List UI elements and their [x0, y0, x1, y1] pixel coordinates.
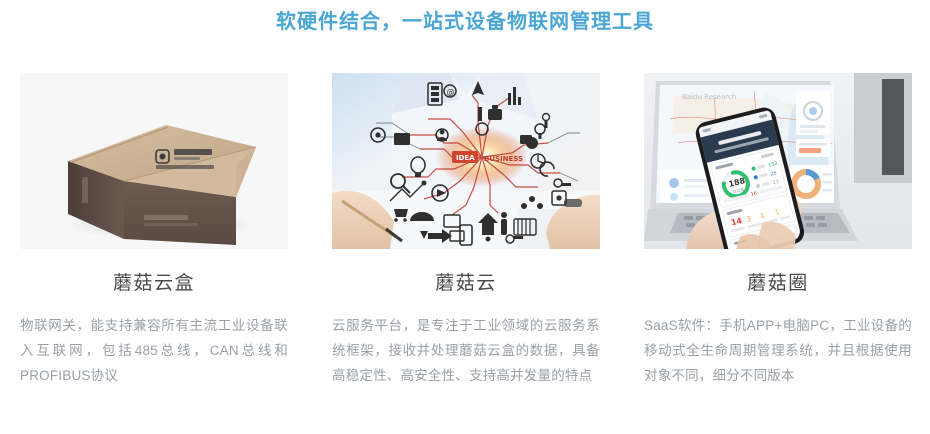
concept-photo-iot-network: @: [332, 73, 600, 249]
card-description: 云服务平台，是专注于工业领域的云服务系统框架，接收并处理蘑菇云盒的数据，具备高稳…: [332, 313, 600, 388]
page-title: 软硬件结合，一站式设备物联网管理工具: [0, 8, 930, 36]
svg-text:IDEA: IDEA: [456, 154, 475, 162]
device-photo-saas-dashboard: Baidu Research: [644, 73, 912, 249]
svg-text:@: @: [447, 88, 455, 97]
feature-card-list: 蘑菇云盒 物联网关，能支持兼容所有主流工业设备联入互联网，包括485总线，CAN…: [20, 73, 912, 388]
svg-text:Baidu Research: Baidu Research: [682, 93, 736, 101]
product-photo-cloud-box: [20, 73, 288, 249]
feature-card[interactable]: 蘑菇云盒 物联网关，能支持兼容所有主流工业设备联入互联网，包括485总线，CAN…: [20, 73, 288, 388]
card-title: 蘑菇云盒: [20, 271, 288, 297]
card-description: 物联网关，能支持兼容所有主流工业设备联入互联网，包括485总线，CAN总线和PR…: [20, 313, 288, 388]
card-title: 蘑菇云: [332, 271, 600, 297]
svg-text:BUSINESS: BUSINESS: [484, 155, 523, 163]
feature-card[interactable]: Baidu Research: [644, 73, 912, 388]
card-description: SaaS软件：手机APP+电脑PC，工业设备的移动式全生命周期管理系统，并且根据…: [644, 313, 912, 388]
feature-card[interactable]: @: [332, 73, 600, 388]
feature-section: 软硬件结合，一站式设备物联网管理工具: [0, 0, 930, 434]
card-title: 蘑菇圈: [644, 271, 912, 297]
